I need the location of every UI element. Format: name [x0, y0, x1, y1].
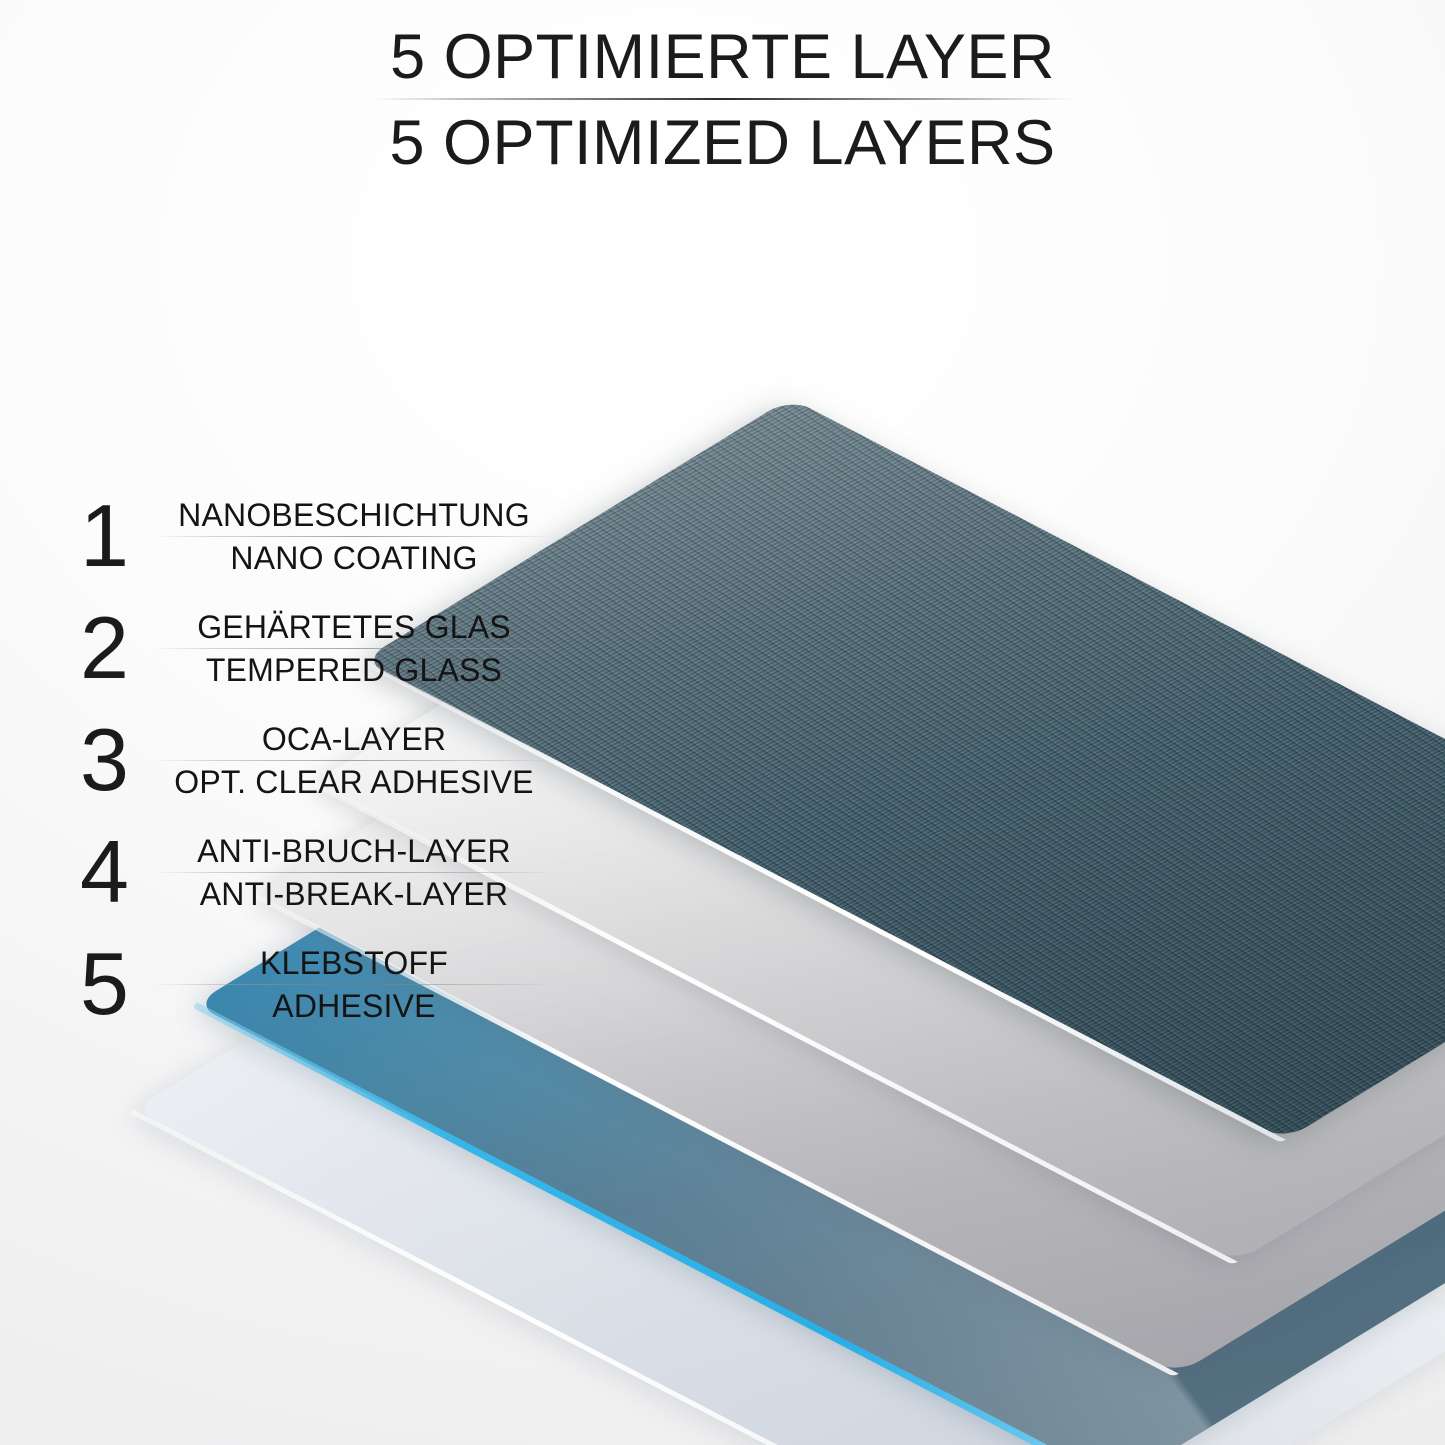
legend-divider-4	[152, 872, 556, 873]
legend-item-4: 4 ANTI-BRUCH-LAYER ANTI-BREAK-LAYER	[56, 816, 556, 928]
legend-divider-5	[152, 984, 556, 985]
legend-label-de-4: ANTI-BRUCH-LAYER	[152, 831, 556, 871]
legend-item-1: 1 NANOBESCHICHTUNG NANO COATING	[56, 480, 556, 592]
legend-label-de-5: KLEBSTOFF	[152, 943, 556, 983]
legend-number-4: 4	[56, 826, 152, 918]
legend-number-1: 1	[56, 490, 152, 582]
legend-texts-4: ANTI-BRUCH-LAYER ANTI-BREAK-LAYER	[152, 831, 556, 914]
legend-divider-3	[152, 760, 556, 761]
legend-divider-1	[152, 536, 556, 537]
legend-label-en-5: ADHESIVE	[152, 986, 556, 1026]
legend-label-de-3: OCA-LAYER	[152, 719, 556, 759]
legend-number-3: 3	[56, 714, 152, 806]
legend-label-en-2: TEMPERED GLASS	[152, 650, 556, 690]
legend-label-en-1: NANO COATING	[152, 538, 556, 578]
legend-item-3: 3 OCA-LAYER OPT. CLEAR ADHESIVE	[56, 704, 556, 816]
layer-infographic: 5 OPTIMIERTE LAYER 5 OPTIMIZED LAYERS 1 …	[0, 0, 1445, 1445]
legend-texts-1: NANOBESCHICHTUNG NANO COATING	[152, 495, 556, 578]
legend-divider-2	[152, 648, 556, 649]
legend-item-5: 5 KLEBSTOFF ADHESIVE	[56, 928, 556, 1040]
legend-label-en-4: ANTI-BREAK-LAYER	[152, 874, 556, 914]
title-divider	[373, 98, 1073, 100]
title-line-de: 5 OPTIMIERTE LAYER	[0, 20, 1445, 94]
legend-label-de-1: NANOBESCHICHTUNG	[152, 495, 556, 535]
legend-texts-5: KLEBSTOFF ADHESIVE	[152, 943, 556, 1026]
layer-legend-list: 1 NANOBESCHICHTUNG NANO COATING 2 GEHÄRT…	[56, 480, 556, 1040]
title-line-en: 5 OPTIMIZED LAYERS	[0, 106, 1445, 180]
legend-number-5: 5	[56, 938, 152, 1030]
legend-number-2: 2	[56, 602, 152, 694]
legend-label-de-2: GEHÄRTETES GLAS	[152, 607, 556, 647]
legend-label-en-3: OPT. CLEAR ADHESIVE	[152, 762, 556, 802]
page-title: 5 OPTIMIERTE LAYER 5 OPTIMIZED LAYERS	[0, 20, 1445, 180]
legend-texts-2: GEHÄRTETES GLAS TEMPERED GLASS	[152, 607, 556, 690]
legend-item-2: 2 GEHÄRTETES GLAS TEMPERED GLASS	[56, 592, 556, 704]
legend-texts-3: OCA-LAYER OPT. CLEAR ADHESIVE	[152, 719, 556, 802]
